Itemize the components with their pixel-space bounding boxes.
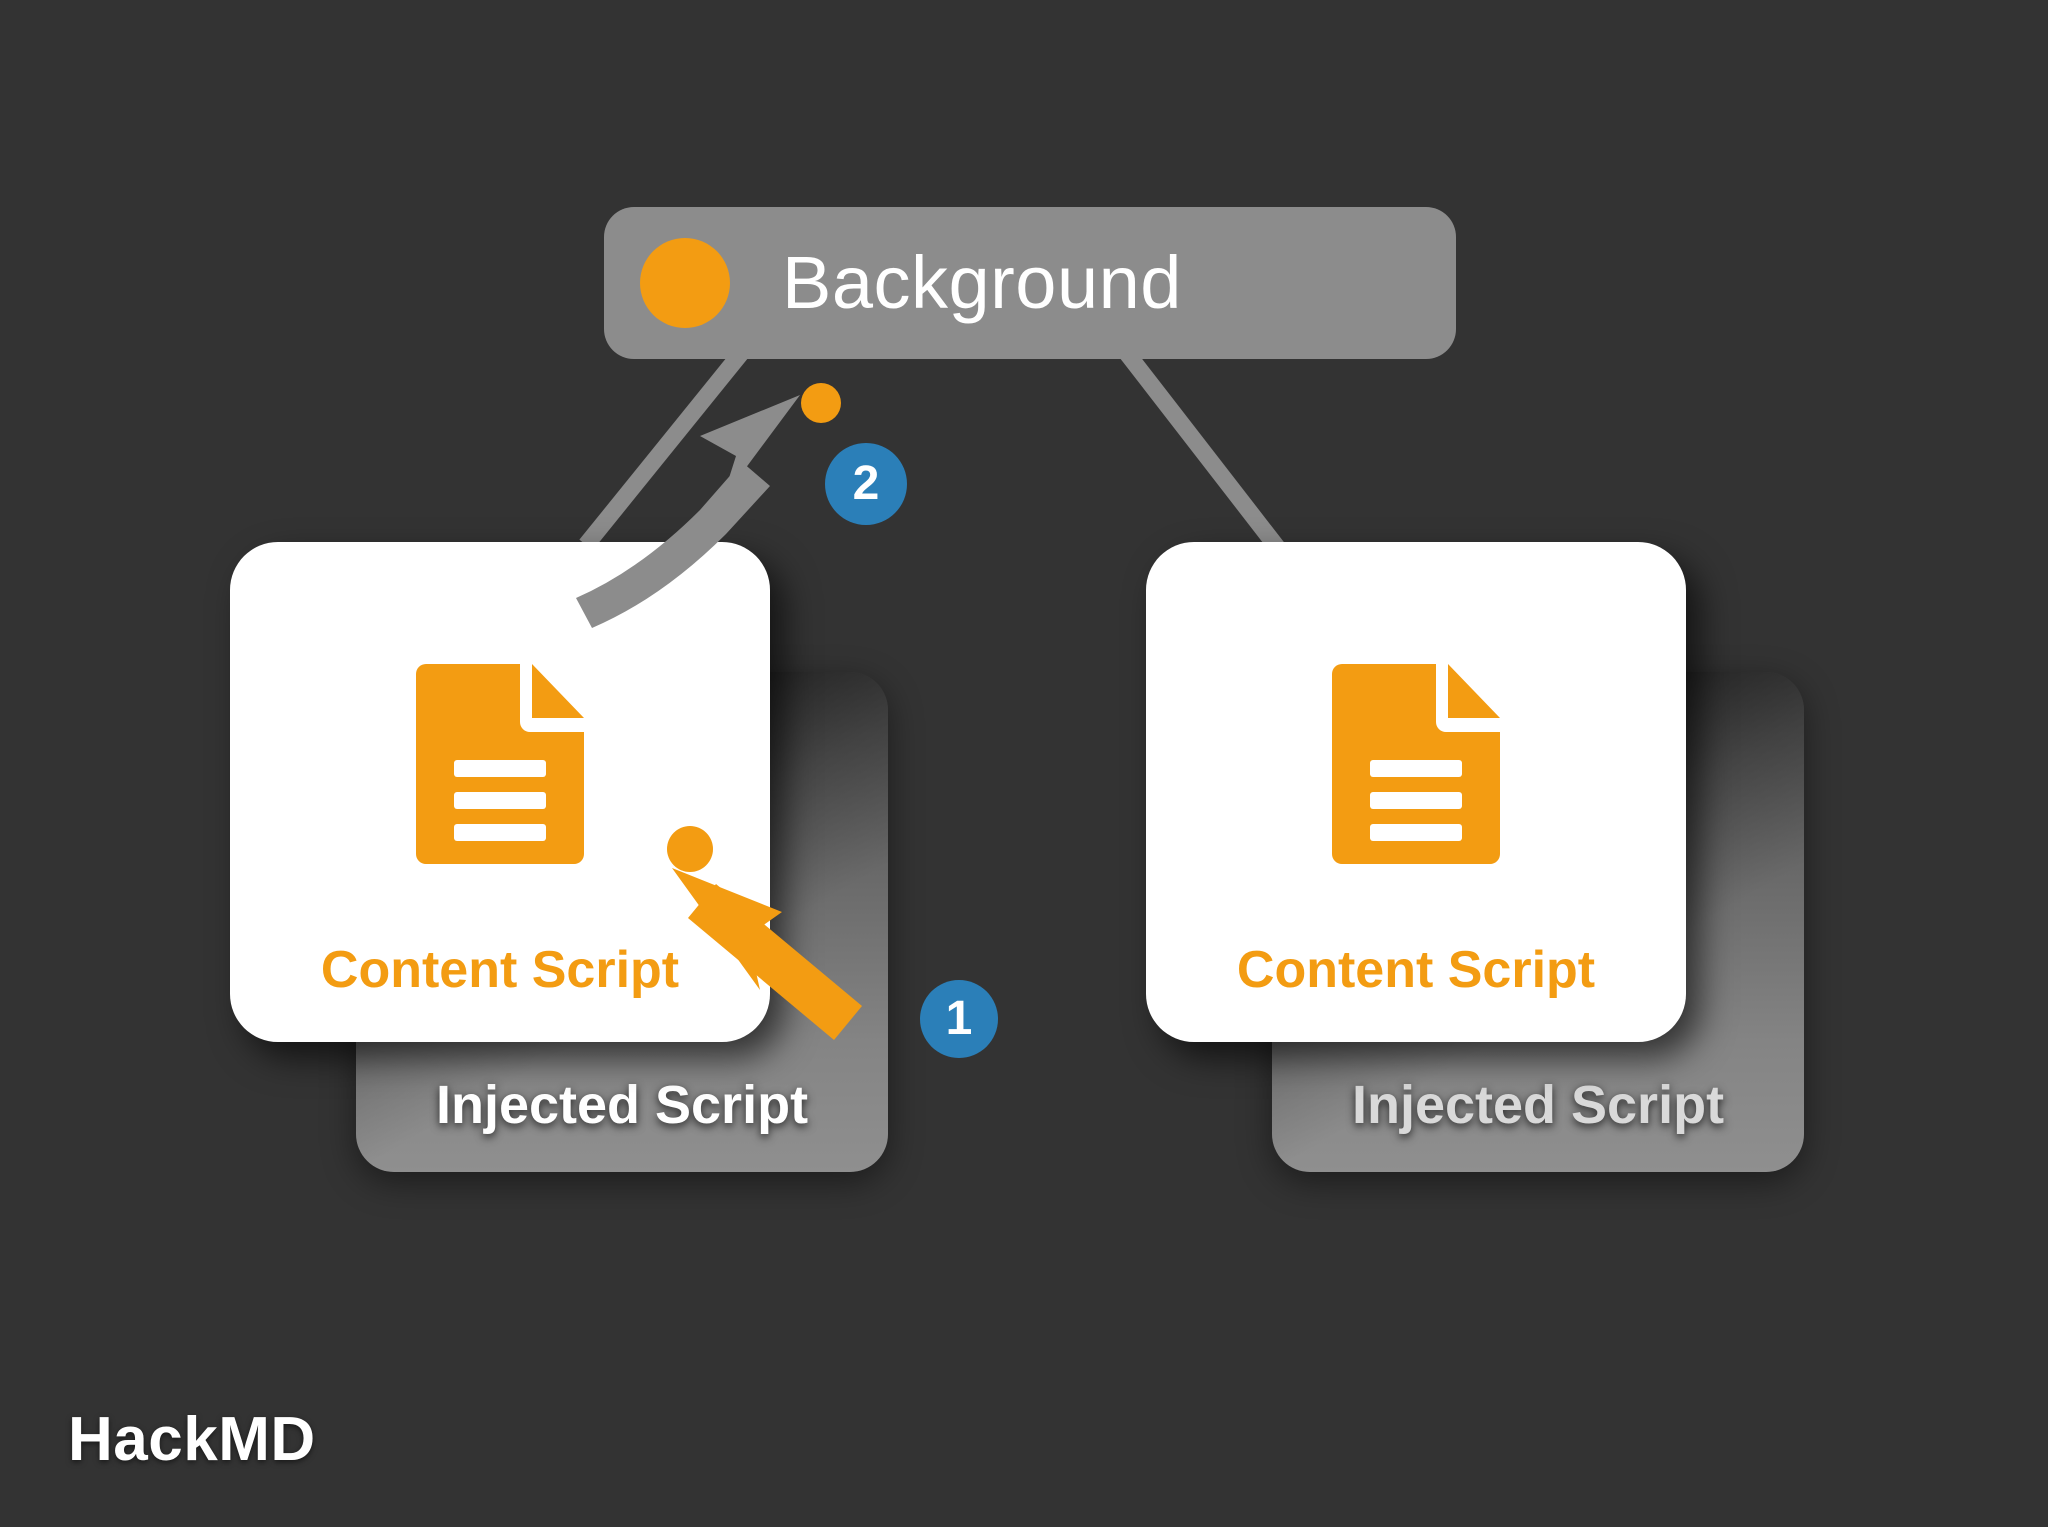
connector-background-to-left-card	[586, 352, 742, 545]
message-dot-to-background	[801, 383, 841, 423]
content-script-card-right[interactable]: Content Script	[1146, 542, 1686, 1042]
diagram-canvas: Injected Script Injected Script Backgrou…	[0, 0, 2048, 1527]
content-script-label-right: Content Script	[1146, 940, 1686, 1000]
step-badge-2[interactable]: 2	[825, 443, 907, 525]
step-badge-1[interactable]: 1	[920, 980, 998, 1058]
background-node-label: Background	[782, 246, 1182, 320]
connector-background-to-right-card	[1126, 352, 1287, 560]
content-script-card-left[interactable]: Content Script	[230, 542, 770, 1042]
content-script-label-left: Content Script	[230, 940, 770, 1000]
document-icon	[416, 664, 584, 864]
background-node[interactable]: Background	[604, 207, 1456, 359]
injected-script-label-left: Injected Script	[356, 1074, 888, 1136]
hackmd-wordmark: HackMD	[68, 1404, 316, 1475]
orange-circle-icon	[640, 238, 730, 328]
document-icon	[1332, 664, 1500, 864]
injected-script-label-right: Injected Script	[1272, 1074, 1804, 1136]
message-dot-content-script-left	[667, 826, 713, 872]
